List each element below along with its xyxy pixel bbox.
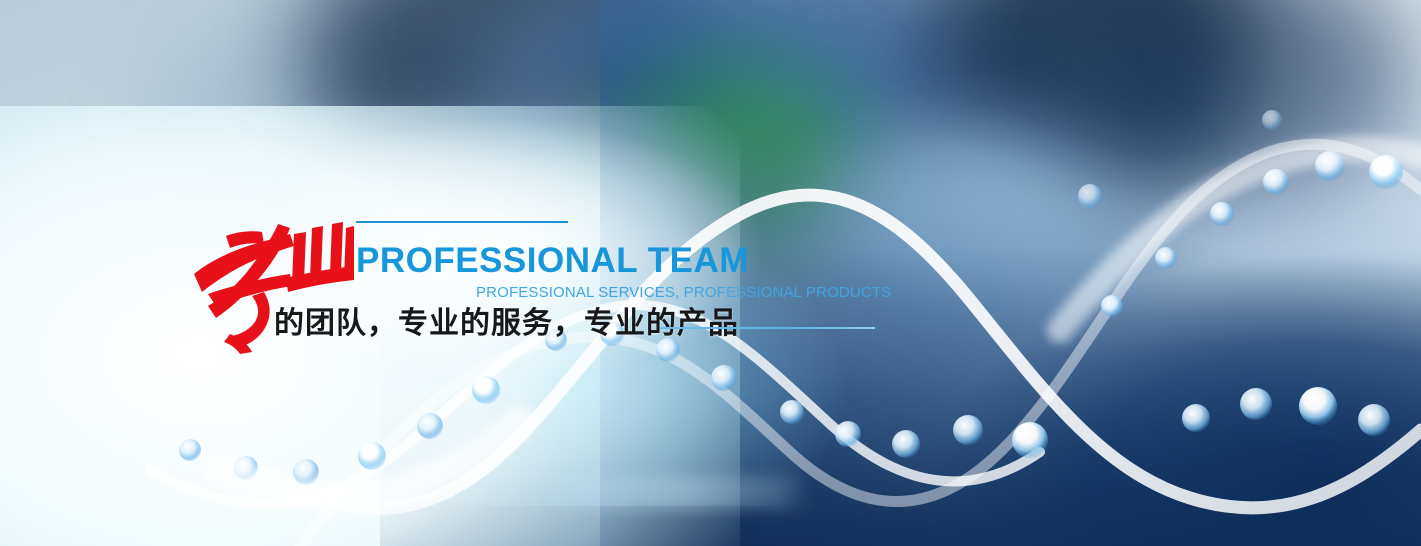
tagline-chinese: 的团队，专业的服务，专业的产品 (274, 306, 739, 342)
headline-group: PROFESSIONAL TEAM PROFESSIONAL SERVICES,… (0, 0, 1421, 546)
page-title: PROFESSIONAL TEAM (356, 243, 749, 278)
promo-banner: PROFESSIONAL TEAM PROFESSIONAL SERVICES,… (0, 0, 1421, 546)
decorative-rule-top (356, 221, 568, 223)
decorative-rule-bottom (660, 327, 875, 329)
page-subtitle: PROFESSIONAL SERVICES, PROFESSIONAL PROD… (476, 285, 891, 300)
